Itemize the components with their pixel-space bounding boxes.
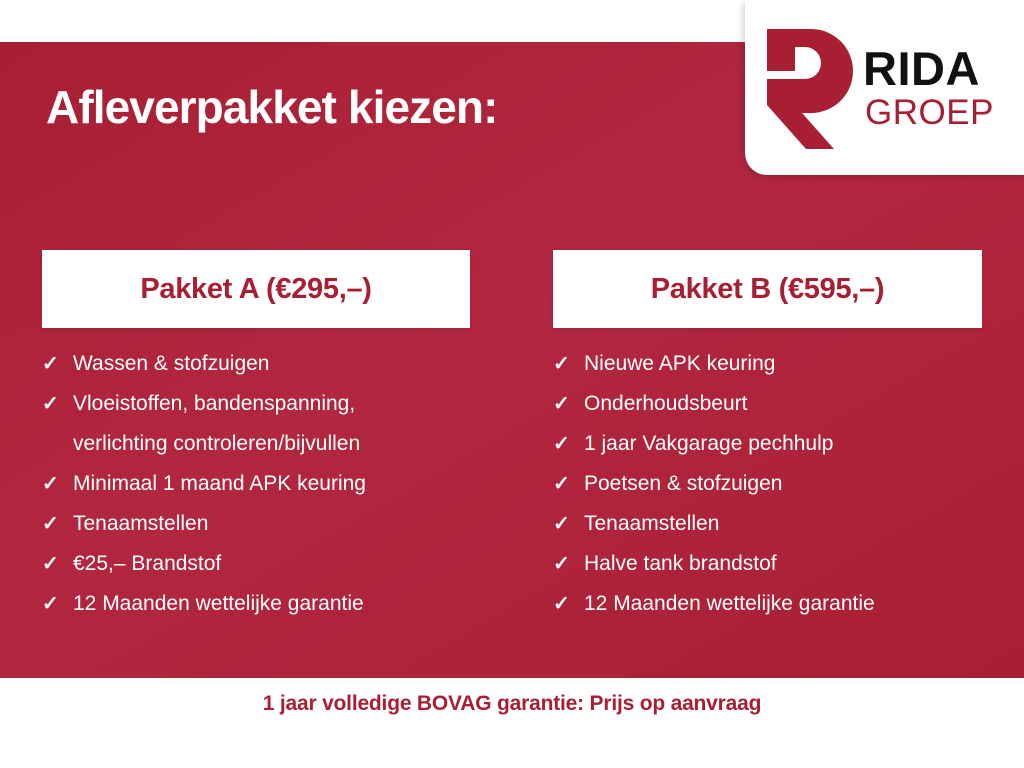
list-item: ✓Wassen & stofzuigen: [42, 344, 470, 384]
checkmark-icon: ✓: [42, 384, 73, 424]
list-item: ✓Tenaamstellen: [553, 504, 982, 544]
checkmark-icon: ✓: [553, 384, 584, 424]
rida-r-monogram-icon: [761, 27, 853, 149]
list-item-label: €25,– Brandstof: [73, 544, 470, 584]
checkmark-icon: ✓: [553, 504, 584, 544]
list-item: ✓Tenaamstellen: [42, 504, 470, 544]
list-item: ✓Halve tank brandstof: [553, 544, 982, 584]
list-item-label: 12 Maanden wettelijke garantie: [73, 584, 470, 624]
package-a-header: Pakket A (€295,–): [42, 250, 470, 328]
list-item-label: Tenaamstellen: [73, 504, 470, 544]
list-item-label: Onderhoudsbeurt: [584, 384, 982, 424]
list-item-label: Wassen & stofzuigen: [73, 344, 470, 384]
list-item-label: Tenaamstellen: [584, 504, 982, 544]
checkmark-icon: ✓: [553, 464, 584, 504]
list-item: ✓12 Maanden wettelijke garantie: [553, 584, 982, 624]
footer-note: 1 jaar volledige BOVAG garantie: Prijs o…: [0, 692, 1024, 716]
list-item: ✓€25,– Brandstof: [42, 544, 470, 584]
list-item-label: Minimaal 1 maand APK keuring: [73, 464, 470, 504]
list-item-label: Vloeistoffen, bandenspanning,verlichting…: [73, 384, 470, 464]
logo-wordmark: RIDA GROEP: [863, 45, 994, 130]
logo: RIDA GROEP: [745, 0, 1024, 175]
package-a-feature-list: ✓Wassen & stofzuigen✓Vloeistoffen, bande…: [42, 344, 470, 624]
package-b-header: Pakket B (€595,–): [553, 250, 982, 328]
checkmark-icon: ✓: [553, 584, 584, 624]
checkmark-icon: ✓: [42, 464, 73, 504]
package-card-a[interactable]: Pakket A (€295,–) ✓Wassen & stofzuigen✓V…: [42, 250, 470, 624]
checkmark-icon: ✓: [42, 584, 73, 624]
logo-name: RIDA: [863, 45, 994, 92]
package-b-title: Pakket B (€595,–): [651, 273, 885, 306]
footer-band: 1 jaar volledige BOVAG garantie: Prijs o…: [0, 678, 1024, 768]
list-item: ✓Nieuwe APK keuring: [553, 344, 982, 384]
list-item: ✓Vloeistoffen, bandenspanning,verlichtin…: [42, 384, 470, 464]
checkmark-icon: ✓: [42, 504, 73, 544]
checkmark-icon: ✓: [553, 544, 584, 584]
package-card-b[interactable]: Pakket B (€595,–) ✓Nieuwe APK keuring✓On…: [553, 250, 982, 624]
checkmark-icon: ✓: [42, 344, 73, 384]
list-item: ✓12 Maanden wettelijke garantie: [42, 584, 470, 624]
list-item-label: 12 Maanden wettelijke garantie: [584, 584, 982, 624]
list-item: ✓Minimaal 1 maand APK keuring: [42, 464, 470, 504]
slide-root: Afleverpakket kiezen: RIDA GROEP Pakket …: [0, 0, 1024, 768]
list-item: ✓Poetsen & stofzuigen: [553, 464, 982, 504]
logo-inner: RIDA GROEP: [745, 0, 1024, 175]
list-item: ✓1 jaar Vakgarage pechhulp: [553, 424, 982, 464]
checkmark-icon: ✓: [42, 544, 73, 584]
list-item-label: 1 jaar Vakgarage pechhulp: [584, 424, 982, 464]
list-item-label: Poetsen & stofzuigen: [584, 464, 982, 504]
checkmark-icon: ✓: [553, 344, 584, 384]
checkmark-icon: ✓: [553, 424, 584, 464]
page-title: Afleverpakket kiezen:: [46, 80, 498, 134]
list-item: ✓Onderhoudsbeurt: [553, 384, 982, 424]
package-b-feature-list: ✓Nieuwe APK keuring✓Onderhoudsbeurt✓1 ja…: [553, 344, 982, 624]
logo-subtitle: GROEP: [865, 95, 994, 130]
list-item-label: Halve tank brandstof: [584, 544, 982, 584]
list-item-label: Nieuwe APK keuring: [584, 344, 982, 384]
package-a-title: Pakket A (€295,–): [140, 273, 371, 306]
